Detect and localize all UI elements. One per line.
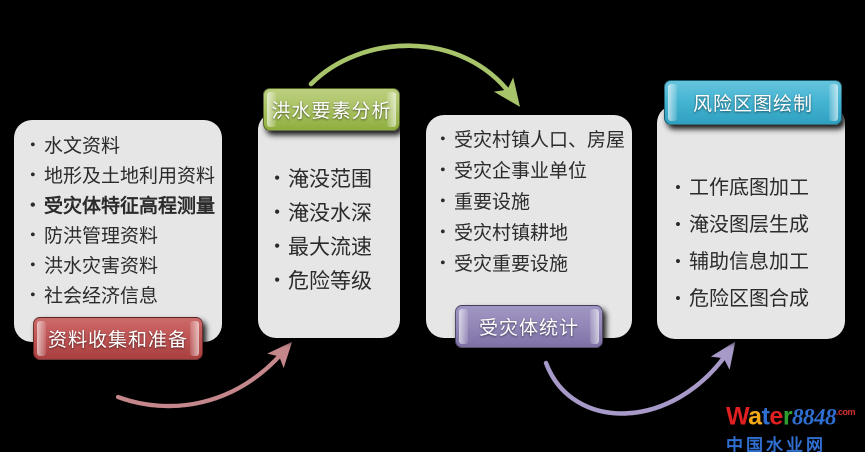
- list-item: 淹没水深: [274, 196, 400, 230]
- stage-2-label-chip[interactable]: 洪水要素分析: [263, 88, 400, 131]
- flowchart-canvas: 水文资料 地形及土地利用资料 受灾体特征高程测量 防洪管理资料 洪水灾害资料 社…: [0, 0, 865, 452]
- watermark-tld: .com: [836, 407, 855, 417]
- watermark-letter-e: e: [769, 402, 782, 430]
- stage-4-item-list: 工作底图加工 淹没图层生成 辅助信息加工 危险区图合成: [657, 170, 845, 318]
- list-item: 受灾重要设施: [440, 249, 632, 280]
- stage-2-label-text: 洪水要素分析: [271, 96, 391, 123]
- list-item: 受灾村镇人口、房屋: [440, 125, 632, 156]
- stage-1-label-chip[interactable]: 资料收集和准备: [33, 317, 203, 360]
- stage-1-label-text: 资料收集和准备: [48, 325, 188, 352]
- list-item: 水文资料: [30, 132, 222, 162]
- list-item: 危险等级: [274, 264, 400, 298]
- stage-panel-2[interactable]: 淹没范围 淹没水深 最大流速 危险等级: [258, 112, 400, 338]
- stage-4-label-chip[interactable]: 风险区图绘制: [664, 80, 842, 125]
- list-item: 受灾村镇耕地: [440, 218, 632, 249]
- list-item: 最大流速: [274, 230, 400, 264]
- list-item: 防洪管理资料: [30, 222, 222, 252]
- stage-2-item-list: 淹没范围 淹没水深 最大流速 危险等级: [258, 162, 400, 298]
- stage-3-item-list: 受灾村镇人口、房屋 受灾企事业单位 重要设施 受灾村镇耕地 受灾重要设施: [426, 125, 632, 280]
- watermark-number: 8848: [792, 404, 836, 429]
- stage-panel-4[interactable]: 工作底图加工 淹没图层生成 辅助信息加工 危险区图合成: [657, 105, 845, 339]
- list-item: 工作底图加工: [675, 170, 845, 207]
- watermark-letter-r: r: [783, 402, 792, 430]
- list-item: 洪水灾害资料: [30, 252, 222, 282]
- watermark-logo: Water8848.com 中国水业网: [726, 400, 860, 446]
- stage-1-item-list: 水文资料 地形及土地利用资料 受灾体特征高程测量 防洪管理资料 洪水灾害资料 社…: [14, 132, 222, 312]
- list-item: 社会经济信息: [30, 282, 222, 312]
- list-item: 危险区图合成: [675, 281, 845, 318]
- watermark-letter-w: W: [726, 402, 748, 430]
- list-item: 受灾企事业单位: [440, 156, 632, 187]
- list-item: 淹没范围: [274, 162, 400, 196]
- stage-4-label-text: 风险区图绘制: [693, 89, 813, 116]
- stage-panel-1[interactable]: 水文资料 地形及土地利用资料 受灾体特征高程测量 防洪管理资料 洪水灾害资料 社…: [14, 120, 222, 342]
- list-item: 淹没图层生成: [675, 207, 845, 244]
- list-item: 重要设施: [440, 187, 632, 218]
- watermark-letter-a: a: [748, 402, 761, 430]
- list-item: 受灾体特征高程测量: [30, 192, 222, 222]
- watermark-brand: Water8848.com: [726, 400, 860, 429]
- list-item: 辅助信息加工: [675, 244, 845, 281]
- watermark-subtitle: 中国水业网: [726, 431, 860, 452]
- stage-3-label-chip[interactable]: 受灾体统计: [455, 305, 603, 348]
- arrow-purple: [546, 352, 728, 413]
- stage-3-label-text: 受灾体统计: [479, 313, 579, 340]
- list-item: 地形及土地利用资料: [30, 162, 222, 192]
